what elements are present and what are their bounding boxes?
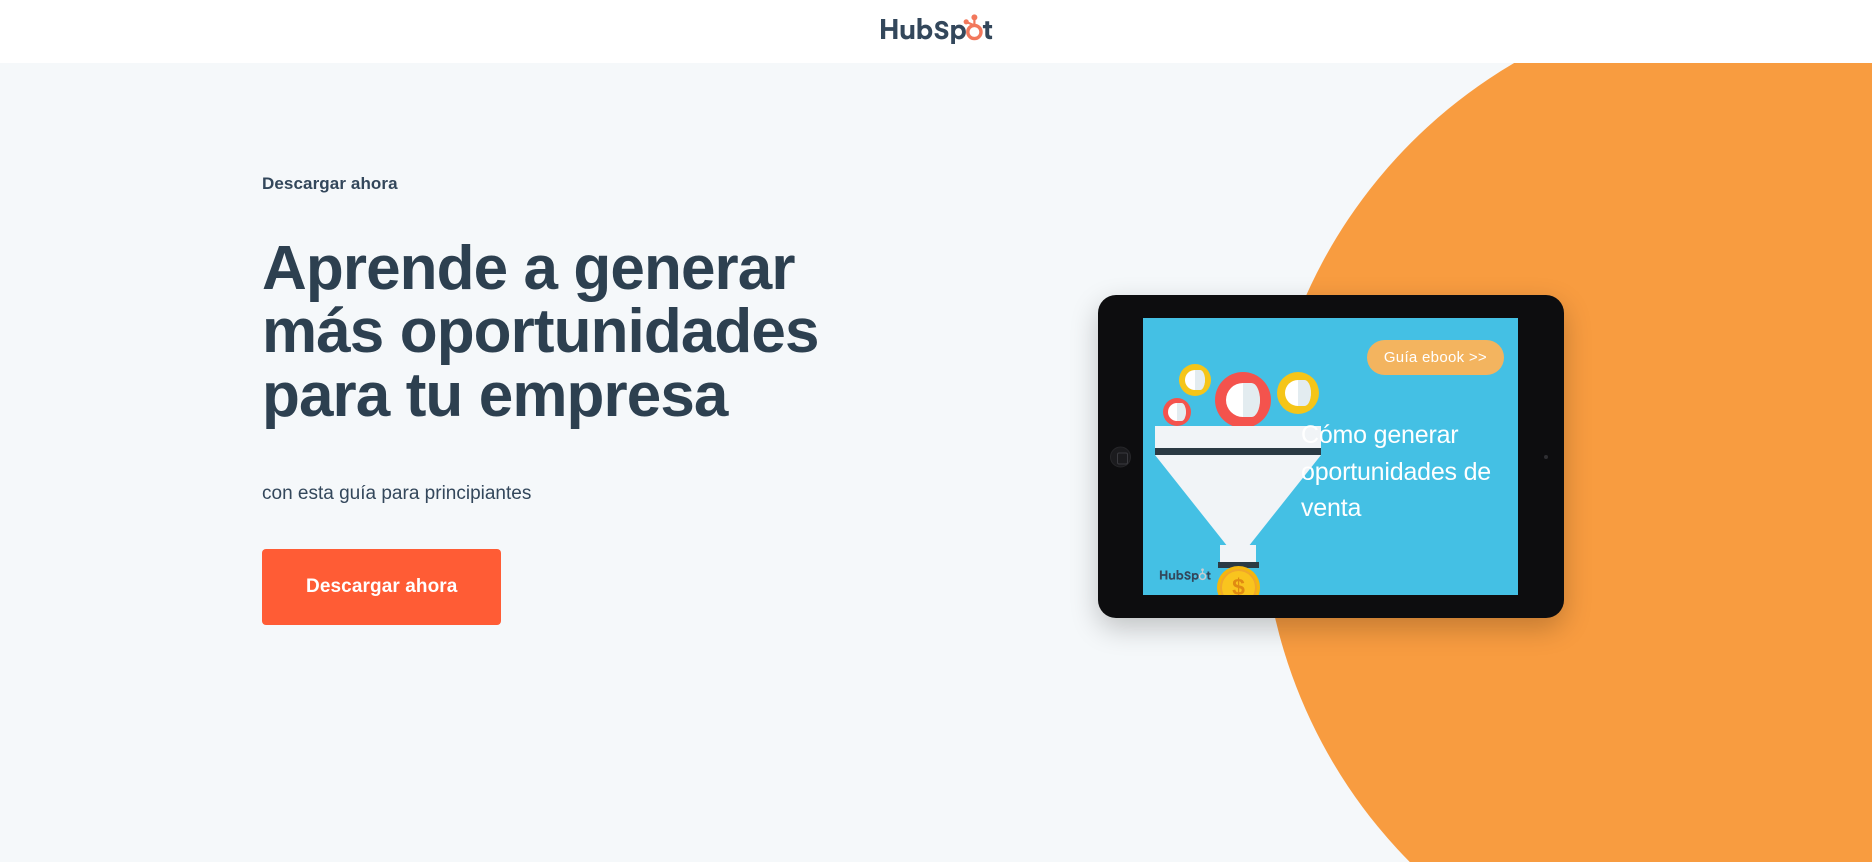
hubspot-logo-icon xyxy=(879,14,993,44)
tablet-home-button-icon xyxy=(1110,446,1131,467)
tablet-mockup: $ Guía ebook >> Cómo generar oportunidad… xyxy=(1098,295,1564,618)
funnel-rim xyxy=(1155,426,1321,448)
ebook-cover-title: Cómo generar oportunidades de venta xyxy=(1301,417,1516,527)
site-header xyxy=(0,0,1872,63)
tablet-camera-icon xyxy=(1544,455,1548,459)
gold-coin-icon: $ xyxy=(1217,566,1260,595)
hero-subtitle: con esta guía para principiantes xyxy=(262,481,882,508)
page-title: Aprende a generar más oportunidades para… xyxy=(262,237,832,427)
ebook-hubspot-logo xyxy=(1159,568,1211,582)
download-now-button[interactable]: Descargar ahora xyxy=(262,549,501,625)
funnel-neck xyxy=(1220,545,1256,563)
ebook-cover: $ Guía ebook >> Cómo generar oportunidad… xyxy=(1143,318,1518,595)
hero-copy-column: Descargar ahora Aprende a generar más op… xyxy=(262,173,882,625)
funnel-bubble-yellow-small xyxy=(1179,364,1211,396)
funnel-bubble-yellow-large xyxy=(1277,372,1319,414)
hubspot-logo-icon-small xyxy=(1159,568,1211,582)
ebook-guide-badge[interactable]: Guía ebook >> xyxy=(1367,340,1504,375)
eyebrow-label: Descargar ahora xyxy=(262,173,882,195)
landing-page: Descargar ahora Aprende a generar más op… xyxy=(0,0,1872,862)
hubspot-logo[interactable] xyxy=(879,14,993,49)
coin-currency-symbol: $ xyxy=(1232,576,1245,595)
funnel-cone xyxy=(1155,455,1321,545)
hero-section: Descargar ahora Aprende a generar más op… xyxy=(0,63,1872,862)
funnel-rim-shadow xyxy=(1155,448,1321,455)
funnel-bubble-red-large xyxy=(1215,372,1271,428)
funnel-bubble-red-small xyxy=(1163,398,1191,426)
